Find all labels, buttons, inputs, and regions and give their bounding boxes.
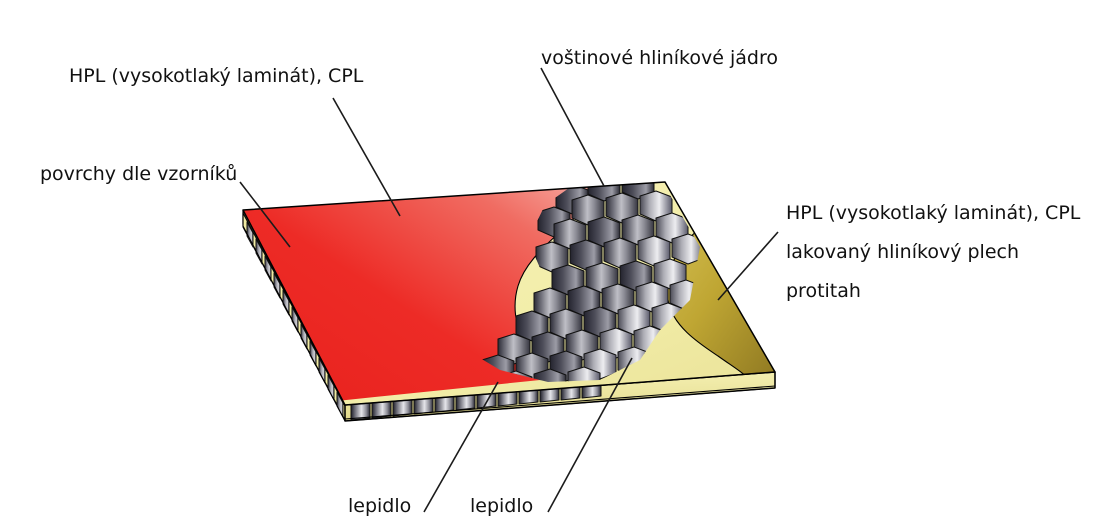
- sandwich-panel: [230, 169, 790, 421]
- diagram-stage: HPL (vysokotlaký laminát), CPL povrchy d…: [0, 0, 1098, 528]
- label-bottom-line3: protitah: [786, 280, 861, 302]
- leader-bottom-laminate: [718, 232, 778, 300]
- label-top-face: HPL (vysokotlaký laminát), CPL: [69, 65, 364, 87]
- label-bottom-line1: HPL (vysokotlaký laminát), CPL: [786, 202, 1081, 224]
- honeycomb-panel-diagram: HPL (vysokotlaký laminát), CPL povrchy d…: [0, 0, 1098, 528]
- leader-core: [541, 68, 604, 186]
- label-core: voštinové hliníkové jádro: [541, 47, 778, 69]
- label-adhesive-left: lepidlo: [348, 495, 411, 517]
- label-surfaces: povrchy dle vzorníků: [40, 163, 237, 185]
- leader-top-face: [333, 98, 400, 216]
- label-bottom-line2: lakovaný hliníkový plech: [786, 241, 1019, 263]
- label-adhesive-right: lepidlo: [470, 495, 533, 517]
